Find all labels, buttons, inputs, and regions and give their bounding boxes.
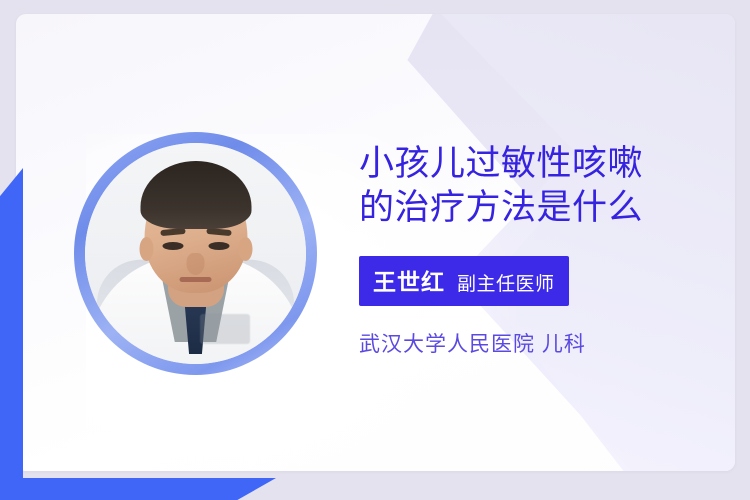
ear-right [238,237,252,261]
poster-canvas: 小孩儿过敏性咳嗽 的治疗方法是什么 王世红 副主任医师 武汉大学人民医院 儿科 [0,0,750,500]
doctor-name: 王世红 [373,263,445,297]
doctor-photo [85,143,306,364]
nose [187,253,205,275]
ear-left [139,237,153,261]
doctor-portrait [74,132,317,375]
eyebrow-right [206,228,231,236]
mouth [180,277,212,282]
coat-embroidery [200,314,250,344]
eye-right [208,242,229,250]
hair [140,161,251,229]
accent-bar-bottom [0,478,276,500]
article-title: 小孩儿过敏性咳嗽 的治疗方法是什么 [359,142,719,230]
portrait-frame [85,143,306,364]
doctor-affiliation: 武汉大学人民医院 儿科 [359,328,719,358]
doctor-rank: 副主任医师 [457,269,555,296]
text-column: 小孩儿过敏性咳嗽 的治疗方法是什么 王世红 副主任医师 武汉大学人民医院 儿科 [359,142,719,358]
doctor-name-badge: 王世红 副主任医师 [359,256,569,306]
eye-left [162,242,183,250]
content-card: 小孩儿过敏性咳嗽 的治疗方法是什么 王世红 副主任医师 武汉大学人民医院 儿科 [16,14,735,471]
eyebrow-left [160,228,185,236]
accent-bar-left [0,168,23,480]
